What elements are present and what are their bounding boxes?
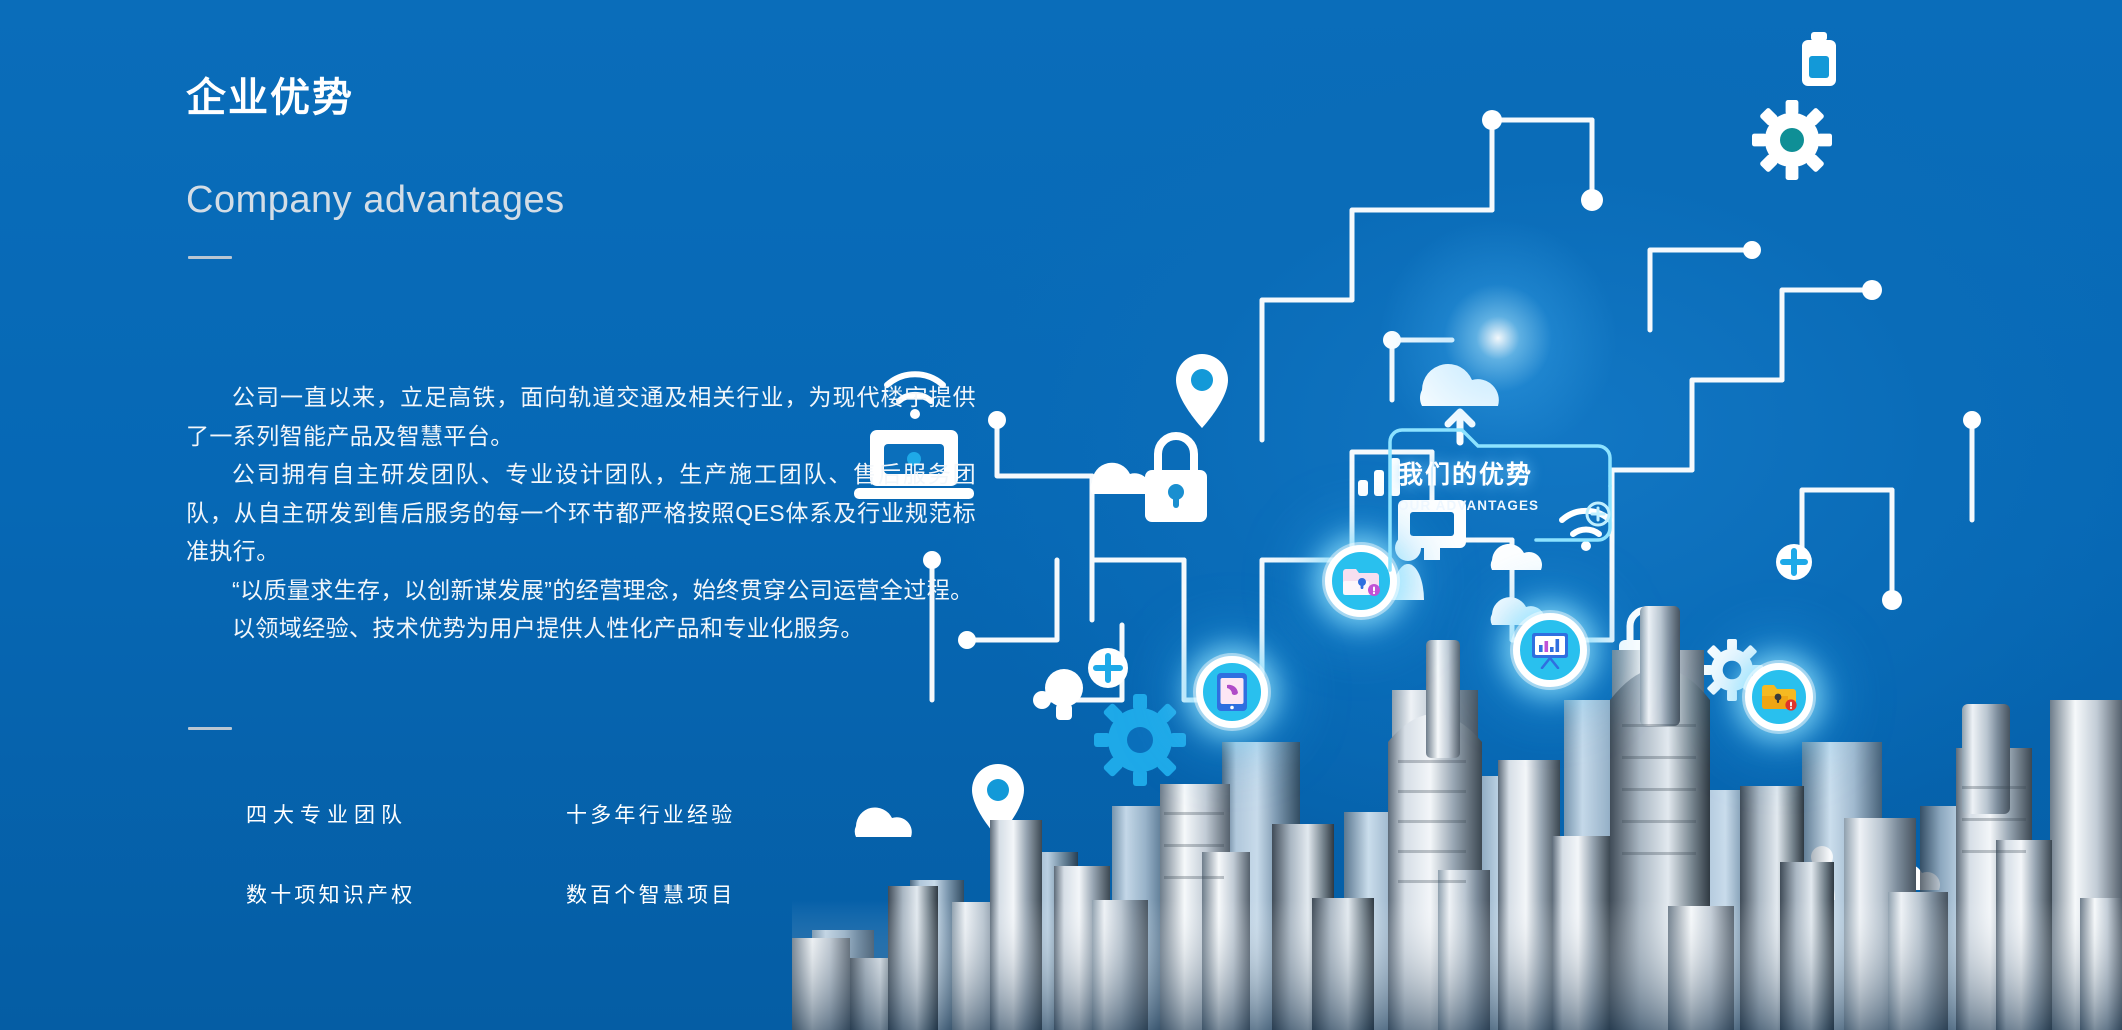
network-dots — [923, 110, 1981, 709]
gear-icon — [1752, 100, 1832, 180]
analytics-board-node — [1513, 613, 1587, 687]
page-title: 企业优势 — [186, 78, 354, 118]
cloud-upload-icon — [1420, 364, 1499, 442]
monitor-icon — [1398, 500, 1466, 560]
title-divider — [188, 256, 232, 259]
paragraph: 公司一直以来，立足高铁，面向轨道交通及相关行业，为现代楼宇提供了一系列智能产品及… — [186, 378, 976, 455]
wifi-icon — [1562, 511, 1610, 551]
person-icon — [1392, 535, 1424, 600]
light-burst — [1318, 158, 1678, 518]
gear-icon — [1701, 639, 1763, 701]
badge-title-en: OUR ADVANTAGES — [1398, 499, 1539, 513]
paragraph: 以领域经验、技术优势为用户提供人性化产品和专业化服务。 — [186, 609, 976, 648]
folder-lock-orange-icon — [1761, 682, 1797, 712]
stats-divider — [188, 727, 232, 730]
lightbulb-icon — [1750, 850, 1782, 893]
paragraph: “以质量求生存，以创新谋发展”的经营理念，始终贯穿公司运营全过程。 — [186, 571, 976, 610]
stats-row: 数十项知识产权 数百个智慧项目 — [246, 885, 886, 965]
stat-experience: 十多年行业经验 — [566, 805, 886, 826]
page-subtitle: Company advantages — [186, 181, 565, 219]
stats-row: 四大专业团队 十多年行业经验 — [246, 805, 886, 885]
chart-board-icon — [1530, 631, 1570, 669]
lock-icon — [1619, 610, 1673, 686]
mobile-phone-icon — [1217, 673, 1247, 711]
folder-outline-svg — [1386, 424, 1616, 574]
stats-grid: 四大专业团队 十多年行业经验 数十项知识产权 数百个智慧项目 — [246, 805, 886, 965]
cloud-icon — [1491, 544, 1542, 570]
cloud-icon — [1889, 864, 1940, 890]
stat-projects: 数百个智慧项目 — [566, 885, 886, 906]
plus-node-icon — [1088, 648, 1128, 688]
secure-folder-node — [1325, 545, 1397, 617]
protected-files-node — [1745, 663, 1813, 731]
person-icon — [1809, 846, 1835, 900]
cloud-icon — [1091, 463, 1151, 494]
folder-lock-icon — [1342, 565, 1380, 597]
lock-icon — [1145, 436, 1207, 522]
badge-title-cn: 我们的优势 — [1398, 463, 1539, 488]
advantages-badge: 我们的优势 OUR ADVANTAGES — [1398, 463, 1539, 513]
location-pin-icon — [1176, 354, 1228, 428]
stat-patents: 数十项知识产权 — [246, 885, 566, 906]
advantages-section: 我们的优势 OUR ADVANTAGES — [0, 0, 2122, 1030]
gear-icon — [1094, 694, 1186, 786]
text-column: 企业优势 Company advantages 公司一直以来，立足高铁，面向轨道… — [186, 0, 1006, 1030]
plus-node-icon — [1776, 544, 1812, 580]
mobile-phone-node — [1196, 656, 1268, 728]
stat-teams: 四大专业团队 — [246, 805, 566, 826]
lightbulb-icon — [1045, 669, 1083, 720]
folder-outline-frame — [1386, 424, 1616, 579]
paragraph: 公司拥有自主研发团队、专业设计团队，生产施工团队、售后服务团队，从自主研发到售后… — [186, 455, 976, 571]
cloud-icon — [1491, 597, 1545, 625]
body-copy: 公司一直以来，立足高铁，面向轨道交通及相关行业，为现代楼宇提供了一系列智能产品及… — [186, 378, 976, 648]
battery-icon — [1802, 32, 1836, 86]
signal-bars-icon — [1358, 458, 1400, 496]
network-lines — [932, 120, 1972, 700]
